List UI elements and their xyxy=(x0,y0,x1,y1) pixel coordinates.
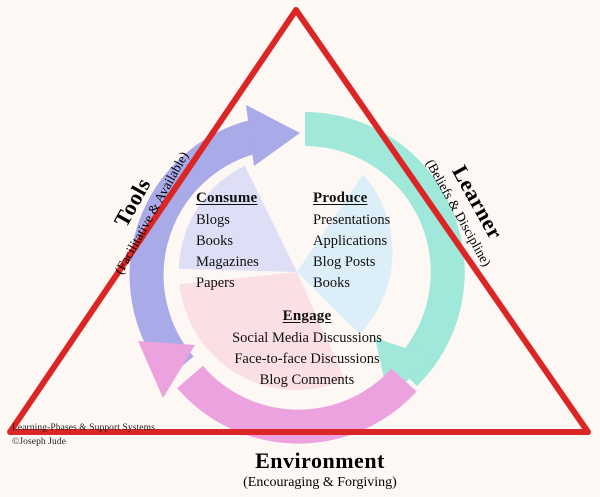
engage-item: Social Media Discussions xyxy=(222,328,392,349)
engage-item-list: Social Media Discussions Face-to-face Di… xyxy=(222,328,392,391)
environment-title: Environment xyxy=(180,448,460,474)
produce-item: Books xyxy=(313,273,390,294)
environment-subtitle: (Encouraging & Forgiving) xyxy=(180,475,460,491)
produce-item: Presentations xyxy=(313,210,390,231)
engage-item: Face-to-face Discussions xyxy=(222,349,392,370)
consume-item: Magazines xyxy=(196,252,259,273)
segment-produce-text: Produce Presentations Applications Blog … xyxy=(313,190,390,294)
produce-item: Blog Posts xyxy=(313,252,390,273)
produce-item-list: Presentations Applications Blog Posts Bo… xyxy=(313,210,390,294)
consume-item: Papers xyxy=(196,273,259,294)
consume-heading: Consume xyxy=(196,190,259,207)
consume-item: Blogs xyxy=(196,210,259,231)
segment-engage-text: Engage Social Media Discussions Face-to-… xyxy=(222,308,392,391)
consume-item: Books xyxy=(196,231,259,252)
diagram-author-credit: ©Joseph Jude xyxy=(12,437,66,447)
diagram-title-credit: Learning-Phases & Support Systems xyxy=(12,423,155,433)
diagram-canvas: Consume Blogs Books Magazines Papers Pro… xyxy=(0,0,600,497)
consume-item-list: Blogs Books Magazines Papers xyxy=(196,210,259,294)
triangle-label-environment: Environment (Encouraging & Forgiving) xyxy=(180,448,460,491)
segment-consume-text: Consume Blogs Books Magazines Papers xyxy=(196,190,259,294)
produce-heading: Produce xyxy=(313,190,390,207)
engage-item: Blog Comments xyxy=(222,370,392,391)
engage-heading: Engage xyxy=(222,308,392,325)
produce-item: Applications xyxy=(313,231,390,252)
